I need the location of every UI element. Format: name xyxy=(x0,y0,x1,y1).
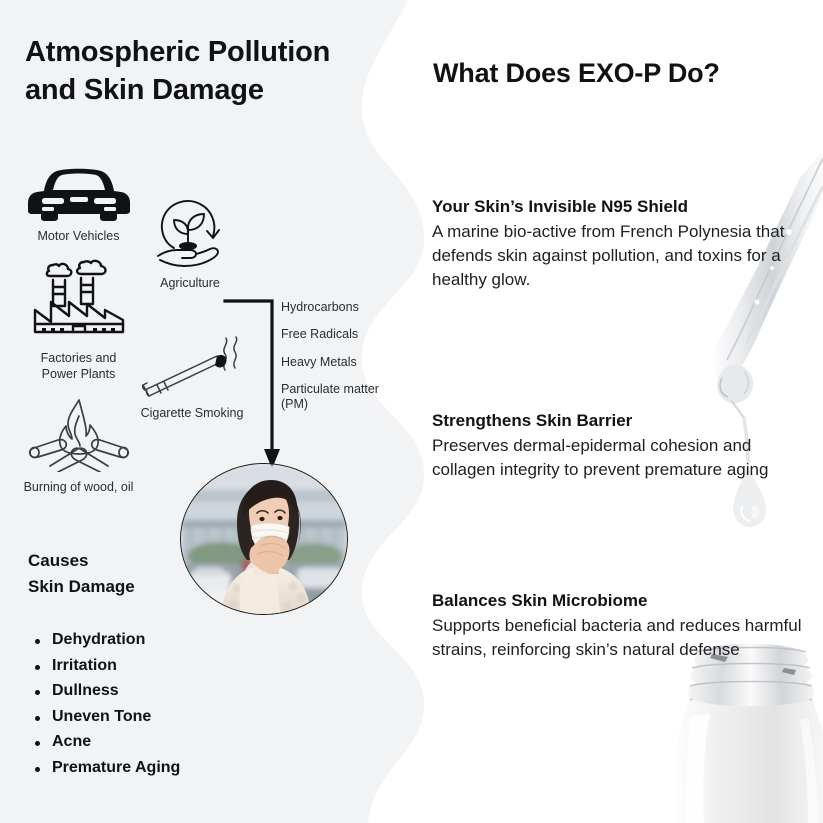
campfire-icon xyxy=(24,396,134,472)
left-panel-title: Atmospheric Pollution and Skin Damage xyxy=(25,33,375,110)
list-item: Irritation xyxy=(30,658,330,674)
pollutant-item: Particulate matter (PM) xyxy=(281,382,381,413)
left-title-line-1: Atmospheric Pollution xyxy=(25,33,375,71)
benefit-heading: Your Skin’s Invisible N95 Shield xyxy=(432,196,817,219)
agriculture-sprout-icon xyxy=(150,198,230,268)
left-panel: Atmospheric Pollution and Skin Damage Mo… xyxy=(0,0,400,823)
infographic-page: Atmospheric Pollution and Skin Damage Mo… xyxy=(0,0,823,823)
pollutant-list: Hydrocarbons Free Radicals Heavy Metals … xyxy=(281,300,381,412)
pollutant-item: Free Radicals xyxy=(281,327,381,342)
right-panel: What Does EXO-P Do? Your Skin’s Invisibl… xyxy=(400,0,823,823)
source-motor-vehicles: Motor Vehicles xyxy=(12,165,145,245)
benefit-block-n95-shield: Your Skin’s Invisible N95 Shield A marin… xyxy=(432,196,817,292)
skin-damage-list: Dehydration Irritation Dullness Uneven T… xyxy=(30,632,330,785)
car-icon xyxy=(26,165,132,221)
benefit-body: A marine bio-active from French Polynesi… xyxy=(432,220,817,292)
factory-icon xyxy=(29,258,129,343)
source-agriculture: Agriculture xyxy=(130,198,250,292)
source-motor-vehicles-label: Motor Vehicles xyxy=(12,229,145,245)
list-item: Premature Aging xyxy=(30,760,330,776)
causes-heading-line-2: Skin Damage xyxy=(28,574,218,600)
source-burning-label: Burning of wood, oil xyxy=(10,480,147,496)
benefit-heading: Balances Skin Microbiome xyxy=(432,590,817,613)
benefit-body: Supports beneficial bacteria and reduces… xyxy=(432,614,817,662)
causes-heading: Causes Skin Damage xyxy=(28,548,218,599)
list-item: Dehydration xyxy=(30,632,330,648)
list-item: Uneven Tone xyxy=(30,709,330,725)
list-item: Acne xyxy=(30,734,330,750)
benefit-body: Preserves dermal-epidermal cohesion and … xyxy=(432,434,817,482)
right-panel-title: What Does EXO-P Do? xyxy=(433,58,813,89)
benefit-block-skin-barrier: Strengthens Skin Barrier Preserves derma… xyxy=(432,410,817,482)
benefit-block-microbiome: Balances Skin Microbiome Supports benefi… xyxy=(432,590,817,662)
pollutant-item: Heavy Metals xyxy=(281,355,381,370)
list-item: Dullness xyxy=(30,683,330,699)
benefit-heading: Strengthens Skin Barrier xyxy=(432,410,817,433)
causes-heading-line-1: Causes xyxy=(28,548,218,574)
pollutant-item: Hydrocarbons xyxy=(281,300,381,315)
left-title-line-2: and Skin Damage xyxy=(25,71,375,109)
